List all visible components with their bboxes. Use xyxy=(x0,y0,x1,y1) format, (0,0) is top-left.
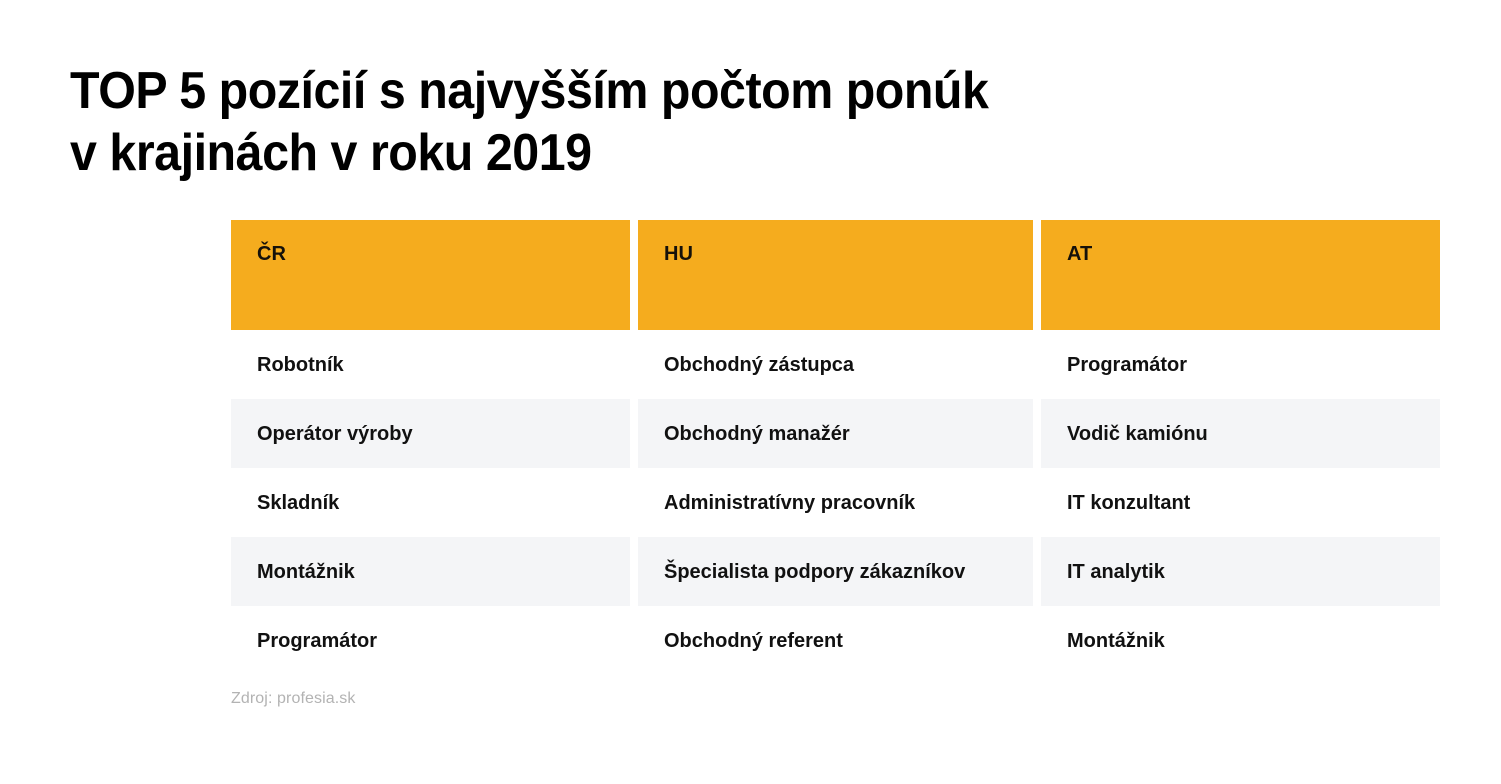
top-positions-table: ČR HU AT Robotník Obchodný zástupca Prog… xyxy=(231,220,1440,675)
page-title-line-1: TOP 5 pozícií s najvyšším počtom ponúk xyxy=(70,60,1167,122)
table-cell: IT konzultant xyxy=(1041,468,1440,537)
table-cell: Obchodný manažér xyxy=(638,399,1033,468)
table-cell: Vodič kamiónu xyxy=(1041,399,1440,468)
table-row: Skladník Administratívny pracovník IT ko… xyxy=(231,468,1440,537)
table-cell: Špecialista podpory zákazníkov xyxy=(638,537,1033,606)
table-header-row: ČR HU AT xyxy=(231,220,1440,330)
column-divider xyxy=(630,606,638,675)
page-title: TOP 5 pozícií s najvyšším počtom ponúk v… xyxy=(70,60,1250,184)
table-row: Robotník Obchodný zástupca Programátor xyxy=(231,330,1440,399)
column-divider xyxy=(630,537,638,606)
column-divider xyxy=(1033,399,1041,468)
table-cell: Obchodný zástupca xyxy=(638,330,1033,399)
table-cell: Montážnik xyxy=(231,537,630,606)
table-cell: Programátor xyxy=(1041,330,1440,399)
column-divider xyxy=(1033,468,1041,537)
column-divider xyxy=(1033,537,1041,606)
column-header-at: AT xyxy=(1041,220,1440,330)
table-cell: Obchodný referent xyxy=(638,606,1033,675)
table-row: Programátor Obchodný referent Montážnik xyxy=(231,606,1440,675)
column-divider xyxy=(1033,330,1041,399)
table-cell: Operátor výroby xyxy=(231,399,630,468)
infographic-canvas: TOP 5 pozícií s najvyšším počtom ponúk v… xyxy=(0,0,1501,784)
table-cell: Montážnik xyxy=(1041,606,1440,675)
column-divider xyxy=(1033,220,1041,330)
column-divider xyxy=(630,399,638,468)
table-cell: IT analytik xyxy=(1041,537,1440,606)
column-divider xyxy=(630,468,638,537)
source-label: Zdroj: profesia.sk xyxy=(231,689,356,709)
column-header-cr: ČR xyxy=(231,220,630,330)
page-title-line-2: v krajinách v roku 2019 xyxy=(70,122,1167,184)
table-cell: Skladník xyxy=(231,468,630,537)
column-header-hu: HU xyxy=(638,220,1033,330)
table-cell: Administratívny pracovník xyxy=(638,468,1033,537)
column-divider xyxy=(630,220,638,330)
table-row: Operátor výroby Obchodný manažér Vodič k… xyxy=(231,399,1440,468)
table-row: Montážnik Špecialista podpory zákazníkov… xyxy=(231,537,1440,606)
table-cell: Programátor xyxy=(231,606,630,675)
column-divider xyxy=(1033,606,1041,675)
table-cell: Robotník xyxy=(231,330,630,399)
column-divider xyxy=(630,330,638,399)
